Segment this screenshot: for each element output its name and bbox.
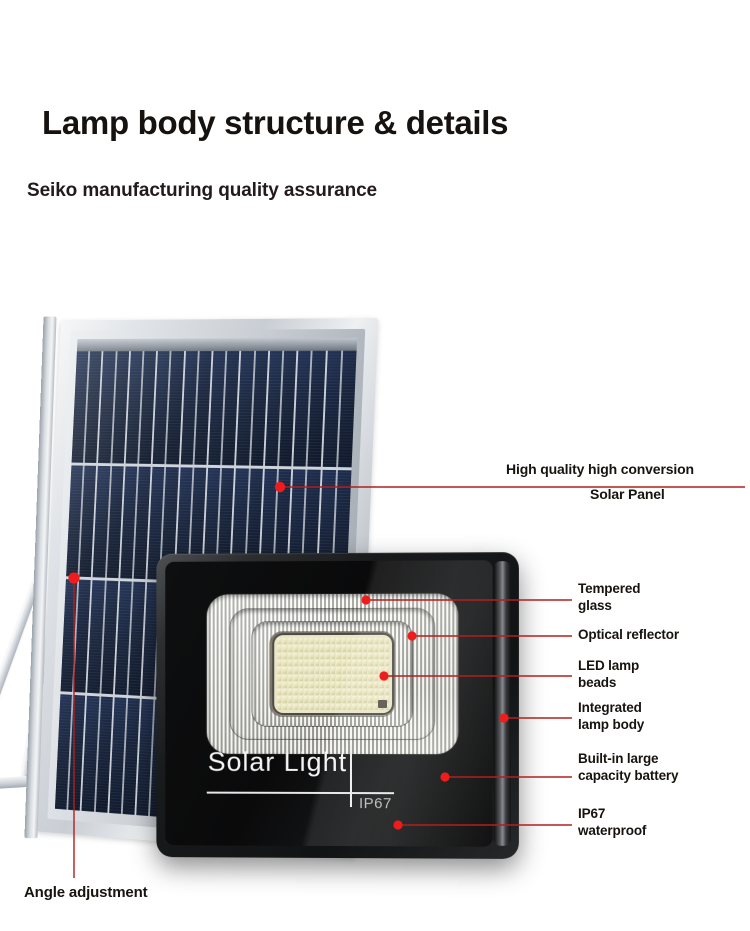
led-bead — [315, 667, 319, 673]
led-bead — [320, 682, 324, 688]
led-bead — [293, 653, 297, 659]
led-bead — [342, 696, 346, 702]
lamp-side-rail — [494, 561, 511, 846]
led-bead — [336, 674, 340, 680]
led-bead — [336, 653, 340, 659]
led-bead — [385, 689, 389, 695]
led-bead — [304, 653, 308, 659]
led-bead — [336, 689, 340, 695]
led-bead — [293, 638, 297, 644]
led-bead — [336, 638, 340, 644]
led-bead — [363, 667, 367, 673]
led-bead — [283, 667, 287, 673]
led-bead — [304, 645, 308, 651]
led-bead — [315, 638, 319, 644]
led-bead — [277, 653, 281, 659]
led-bead — [358, 682, 362, 688]
led-bead — [293, 689, 297, 695]
led-bead — [309, 667, 313, 673]
led-bead — [374, 667, 378, 673]
led-bead — [325, 653, 329, 659]
led-bead — [325, 682, 329, 688]
led-bead — [374, 682, 378, 688]
led-bead — [379, 660, 383, 666]
led-bead — [277, 667, 281, 673]
led-bead — [309, 704, 313, 710]
callout-label-tempered-glass: Tempered glass — [578, 580, 640, 614]
led-bead — [320, 653, 324, 659]
led-bead — [320, 660, 324, 666]
led-bead — [352, 674, 356, 680]
led-bead — [379, 689, 383, 695]
led-bead — [379, 674, 383, 680]
led-bead — [358, 674, 362, 680]
led-bead — [363, 689, 367, 695]
led-bead — [336, 667, 340, 673]
led-bead — [288, 660, 292, 666]
led-bead — [342, 674, 346, 680]
led-bead — [320, 704, 324, 710]
led-bead — [288, 689, 292, 695]
led-bead — [299, 689, 303, 695]
brand-text: Solar Light — [208, 747, 347, 778]
led-bead — [277, 689, 281, 695]
led-bead — [352, 704, 356, 710]
brand-divider-tick — [350, 745, 352, 807]
led-bead — [309, 682, 313, 688]
led-bead — [288, 682, 292, 688]
led-bead — [283, 645, 287, 651]
led-bead — [288, 675, 292, 681]
led-bead — [304, 638, 308, 644]
led-bead — [331, 689, 335, 695]
callout-label-integrated-lamp-body: Integrated lamp body — [578, 699, 644, 733]
optical-reflector — [207, 594, 459, 755]
led-bead — [283, 696, 287, 702]
callout-label-built-in-battery: Built-in large capacity battery — [578, 750, 678, 784]
led-bead — [299, 675, 303, 681]
led-bead — [320, 696, 324, 702]
led-bead — [336, 660, 340, 666]
led-bead — [368, 667, 372, 673]
led-bead — [304, 682, 308, 688]
lamp-face-panel: Solar Light IP67 — [165, 560, 492, 847]
led-bead — [293, 682, 297, 688]
brand-marking: Solar Light IP67 — [208, 747, 425, 820]
led-bead — [315, 653, 319, 659]
led-bead — [331, 667, 335, 673]
led-bead — [309, 653, 313, 659]
led-bead — [283, 653, 287, 659]
led-bead — [331, 653, 335, 659]
led-bead — [379, 653, 383, 659]
led-bead — [352, 689, 356, 695]
led-bead — [363, 704, 367, 710]
led-bead — [385, 652, 389, 658]
callout-label-led-lamp-beads: LED lamp beads — [578, 657, 639, 691]
led-bead — [347, 682, 351, 688]
led-bead — [288, 704, 292, 710]
led-bead — [315, 675, 319, 681]
led-bead — [363, 682, 367, 688]
led-bead — [320, 638, 324, 644]
led-bead — [358, 704, 362, 710]
led-bead — [283, 689, 287, 695]
led-bead — [347, 696, 351, 702]
page-subtitle: Seiko manufacturing quality assurance — [27, 180, 377, 202]
led-bead — [277, 660, 281, 666]
led-bead — [331, 645, 335, 651]
led-bead — [283, 675, 287, 681]
led-bead — [352, 638, 356, 644]
led-bead — [358, 689, 362, 695]
product-illustration: Solar Light IP67 — [0, 300, 580, 900]
led-bead — [358, 638, 362, 644]
led-bead — [374, 674, 378, 680]
led-bead — [368, 704, 372, 710]
led-bead — [283, 704, 287, 710]
led-bead — [385, 682, 389, 688]
led-bead — [379, 645, 383, 651]
led-bead — [336, 682, 340, 688]
led-bead — [325, 667, 329, 673]
led-bead — [374, 653, 378, 659]
led-bead — [277, 645, 281, 651]
page-title: Lamp body structure & details — [42, 104, 508, 142]
led-bead — [304, 689, 308, 695]
led-bead — [363, 653, 367, 659]
led-bead — [309, 660, 313, 666]
led-bead — [358, 653, 362, 659]
led-bead — [293, 704, 297, 710]
led-bead — [320, 645, 324, 651]
led-bead — [352, 667, 356, 673]
led-bead — [315, 689, 319, 695]
callout-label-solar-panel-line1: High quality high conversion — [506, 461, 694, 478]
led-bead — [368, 645, 372, 651]
led-bead — [304, 667, 308, 673]
led-bead — [293, 645, 297, 651]
led-bead — [315, 660, 319, 666]
led-bead — [331, 704, 335, 710]
led-bead — [315, 704, 319, 710]
led-bead — [342, 682, 346, 688]
solar-cell — [322, 351, 356, 470]
led-driver-chip — [378, 700, 387, 708]
led-bead — [385, 674, 389, 680]
led-bead — [283, 660, 287, 666]
led-bead — [363, 638, 367, 644]
led-bead — [352, 645, 356, 651]
led-bead — [379, 638, 383, 644]
led-bead — [358, 667, 362, 673]
led-bead — [368, 653, 372, 659]
led-bead — [374, 638, 378, 644]
led-bead — [347, 638, 351, 644]
led-bead — [347, 674, 351, 680]
led-bead — [299, 638, 303, 644]
led-bead — [288, 667, 292, 673]
led-bead — [299, 660, 303, 666]
led-bead — [368, 638, 372, 644]
led-bead — [304, 696, 308, 702]
callout-label-optical-reflector: Optical reflector — [578, 626, 679, 643]
led-bead — [299, 667, 303, 673]
led-bead — [374, 660, 378, 666]
led-bead — [374, 645, 378, 651]
led-bead — [358, 660, 362, 666]
led-bead — [325, 638, 329, 644]
led-bead — [368, 682, 372, 688]
led-bead — [385, 667, 389, 673]
led-bead — [288, 638, 292, 644]
led-bead — [320, 667, 324, 673]
led-bead — [277, 704, 281, 710]
led-bead — [331, 675, 335, 681]
led-bead — [342, 704, 346, 710]
led-bead — [358, 645, 362, 651]
led-bead — [368, 660, 372, 666]
led-bead — [368, 674, 372, 680]
led-bead — [347, 645, 351, 651]
led-bead — [379, 682, 383, 688]
led-bead — [299, 696, 303, 702]
led-bead — [363, 674, 367, 680]
led-bead — [320, 689, 324, 695]
led-bead — [385, 660, 389, 666]
led-bead — [374, 689, 378, 695]
led-bead — [342, 653, 346, 659]
led-bead — [304, 660, 308, 666]
led-bead — [277, 696, 281, 702]
led-bead — [352, 682, 356, 688]
led-bead — [379, 667, 383, 673]
led-bead — [299, 645, 303, 651]
led-bead — [293, 660, 297, 666]
callout-label-ip67-waterproof: IP67 waterproof — [578, 805, 646, 839]
led-bead — [368, 696, 372, 702]
led-bead — [325, 675, 329, 681]
led-bead — [288, 653, 292, 659]
brand-underline — [207, 792, 394, 795]
solar-panel-busbar — [77, 338, 357, 351]
led-bead — [309, 645, 313, 651]
led-bead — [342, 645, 346, 651]
led-bead — [309, 696, 313, 702]
led-bead — [363, 645, 367, 651]
led-bead — [347, 704, 351, 710]
led-bead — [347, 667, 351, 673]
led-bead — [336, 696, 340, 702]
led-bead — [325, 689, 329, 695]
led-bead — [299, 653, 303, 659]
led-bead — [315, 682, 319, 688]
led-bead — [325, 660, 329, 666]
led-bead — [288, 645, 292, 651]
led-bead — [277, 682, 281, 688]
led-bead — [331, 682, 335, 688]
led-lamp-bead-panel — [274, 635, 392, 713]
led-bead — [293, 675, 297, 681]
led-bead — [347, 660, 351, 666]
led-bead — [277, 638, 281, 644]
led-bead — [283, 682, 287, 688]
led-bead — [325, 696, 329, 702]
led-bead — [347, 653, 351, 659]
callout-label-angle-adjustment: Angle adjustment — [24, 884, 147, 901]
led-bead — [352, 660, 356, 666]
led-bead — [363, 660, 367, 666]
lamp-head: Solar Light IP67 — [156, 552, 519, 859]
callout-label-solar-panel-line2: Solar Panel — [590, 486, 665, 503]
led-bead — [315, 645, 319, 651]
led-bead — [352, 653, 356, 659]
led-bead — [363, 696, 367, 702]
led-bead — [320, 675, 324, 681]
led-bead — [331, 696, 335, 702]
led-bead — [342, 638, 346, 644]
led-bead — [315, 696, 319, 702]
led-bead — [385, 645, 389, 651]
led-bead — [283, 638, 287, 644]
led-bead — [347, 689, 351, 695]
led-bead — [358, 696, 362, 702]
led-bead — [293, 667, 297, 673]
led-bead — [288, 696, 292, 702]
led-bead — [299, 682, 303, 688]
led-bead-grid — [277, 638, 389, 710]
led-bead — [336, 704, 340, 710]
led-bead — [304, 704, 308, 710]
led-bead — [309, 689, 313, 695]
led-bead — [304, 675, 308, 681]
led-bead — [342, 689, 346, 695]
led-bead — [331, 638, 335, 644]
led-bead — [331, 660, 335, 666]
led-bead — [325, 645, 329, 651]
led-bead — [309, 638, 313, 644]
ip-rating-badge: IP67 — [359, 795, 392, 812]
led-bead — [325, 704, 329, 710]
led-bead — [309, 675, 313, 681]
led-bead — [336, 645, 340, 651]
led-bead — [352, 696, 356, 702]
led-bead — [293, 696, 297, 702]
led-bead — [277, 675, 281, 681]
led-bead — [342, 660, 346, 666]
led-bead — [342, 667, 346, 673]
led-bead — [299, 704, 303, 710]
led-bead — [385, 638, 389, 644]
led-bead — [368, 689, 372, 695]
